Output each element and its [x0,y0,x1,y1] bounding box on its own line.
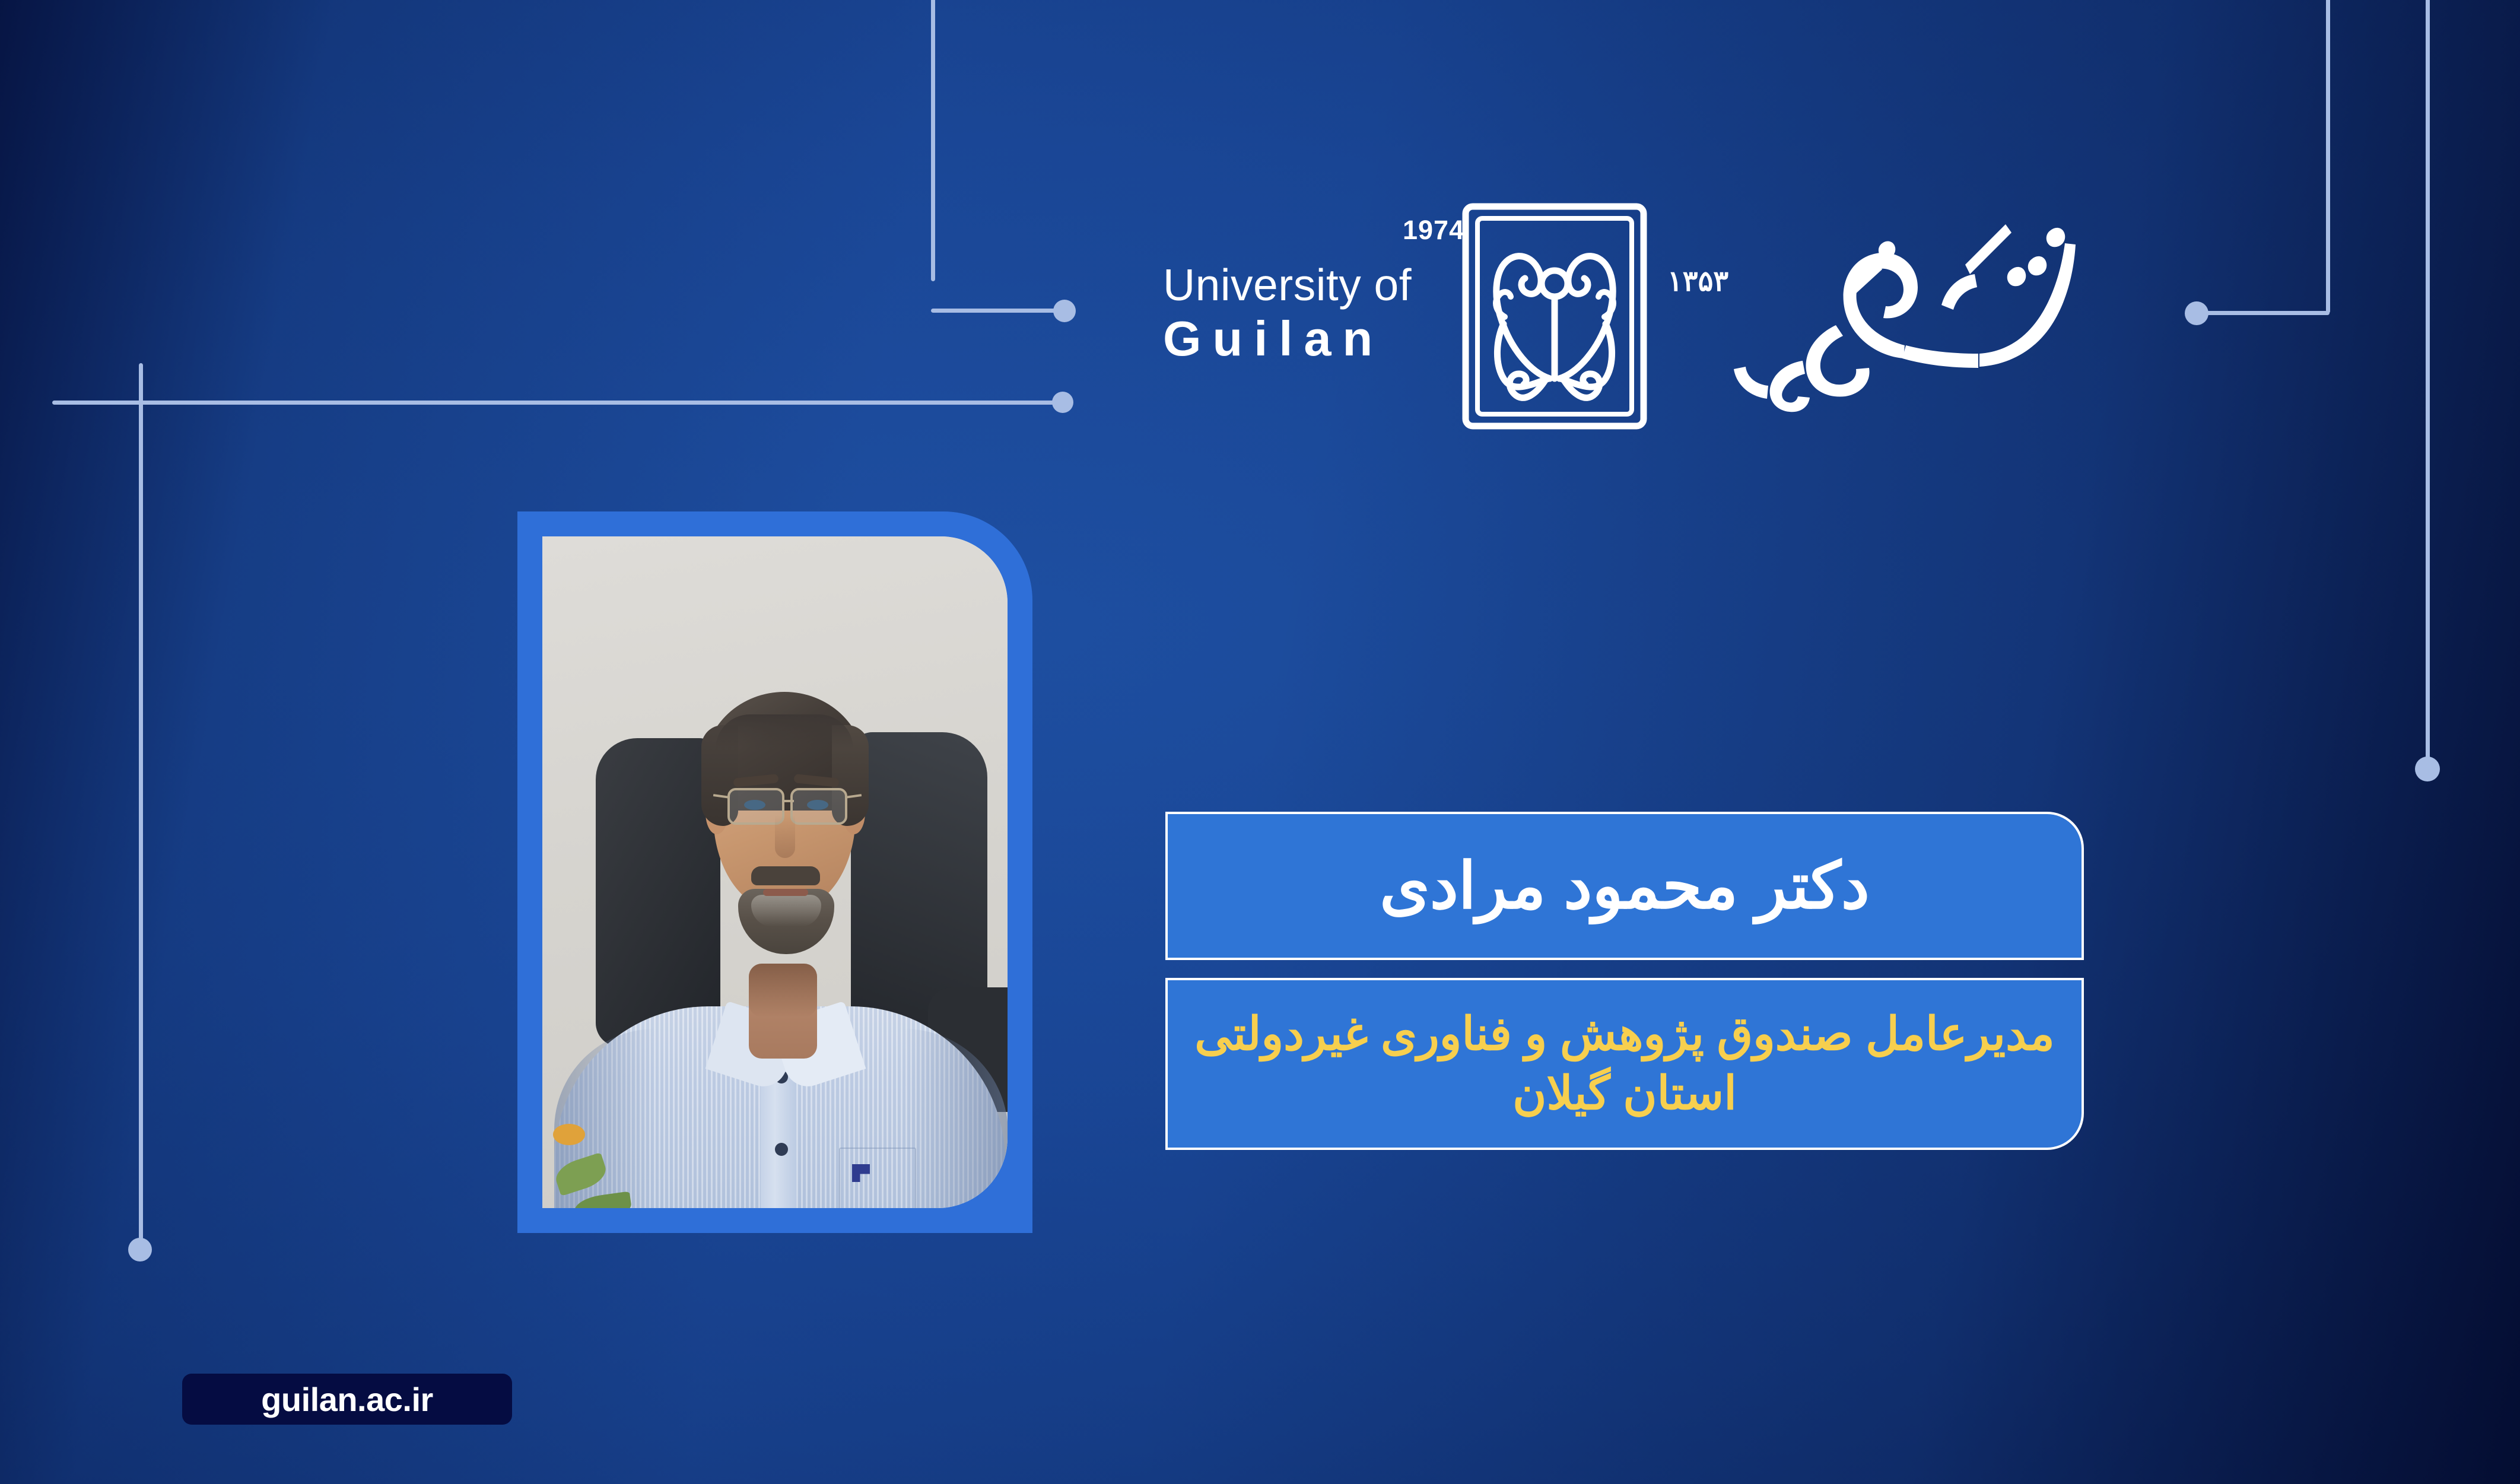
photo-nose [775,815,795,858]
person-name-banner: دکتر محمود مرادی [1165,812,2084,960]
person-title-text: مدیرعامل صندوق پژوهش و فناوری غیردولتی ا… [1168,1005,2082,1123]
photo-glasses-bridge [782,800,794,802]
website-badge[interactable]: guilan.ac.ir [182,1374,512,1425]
vertical-line-left-long [139,363,143,1247]
portrait-photo [542,536,1008,1208]
person-name-text: دکتر محمود مرادی [1380,851,1870,921]
logo-english-line1: University of [1163,262,1412,308]
dot-left-horizontal-end [1052,392,1073,413]
dot-far-right [2415,757,2440,781]
vertical-line-top-left-group [931,0,935,281]
photo-glasses-lens-right [790,788,847,825]
dot-left-vertical-end [128,1238,152,1261]
photo-mouth [763,889,808,896]
portrait-photo-frame [517,511,1032,1233]
butterfly-emblem-icon [1460,201,1650,432]
photo-moustache [751,866,820,885]
website-url-text: guilan.ac.ir [261,1380,433,1419]
logo-persian-name [1733,208,2089,421]
photo-neck-shadow [749,964,817,1017]
horizontal-line-top-left-group [931,309,1059,313]
logo-english-line2: Guilan [1163,314,1412,364]
horizontal-line-left-long [52,401,1061,405]
vertical-line-far-right [2426,0,2430,764]
logo-english-text: University of Guilan [1163,262,1412,364]
photo-hairline [716,714,853,749]
photo-shirt-button [775,1143,788,1156]
photo-shirt-pocket [839,1148,916,1208]
person-title-banner: مدیرعامل صندوق پژوهش و فناوری غیردولتی ا… [1165,978,2084,1150]
dot-top-right [2185,301,2208,325]
photo-plant-flower [553,1124,585,1145]
horizontal-line-top-right [2199,311,2330,315]
logo-year-gregorian: 1974 [1403,215,1464,246]
logo-year-persian: ۱۳۵۳ [1667,265,1728,298]
university-logo: University of Guilan 1974 ۱۳۵۳ [1163,196,2100,433]
vertical-line-top-right [2326,0,2330,313]
photo-beard-highlight [751,895,821,927]
dot-top-left-group [1053,300,1076,322]
